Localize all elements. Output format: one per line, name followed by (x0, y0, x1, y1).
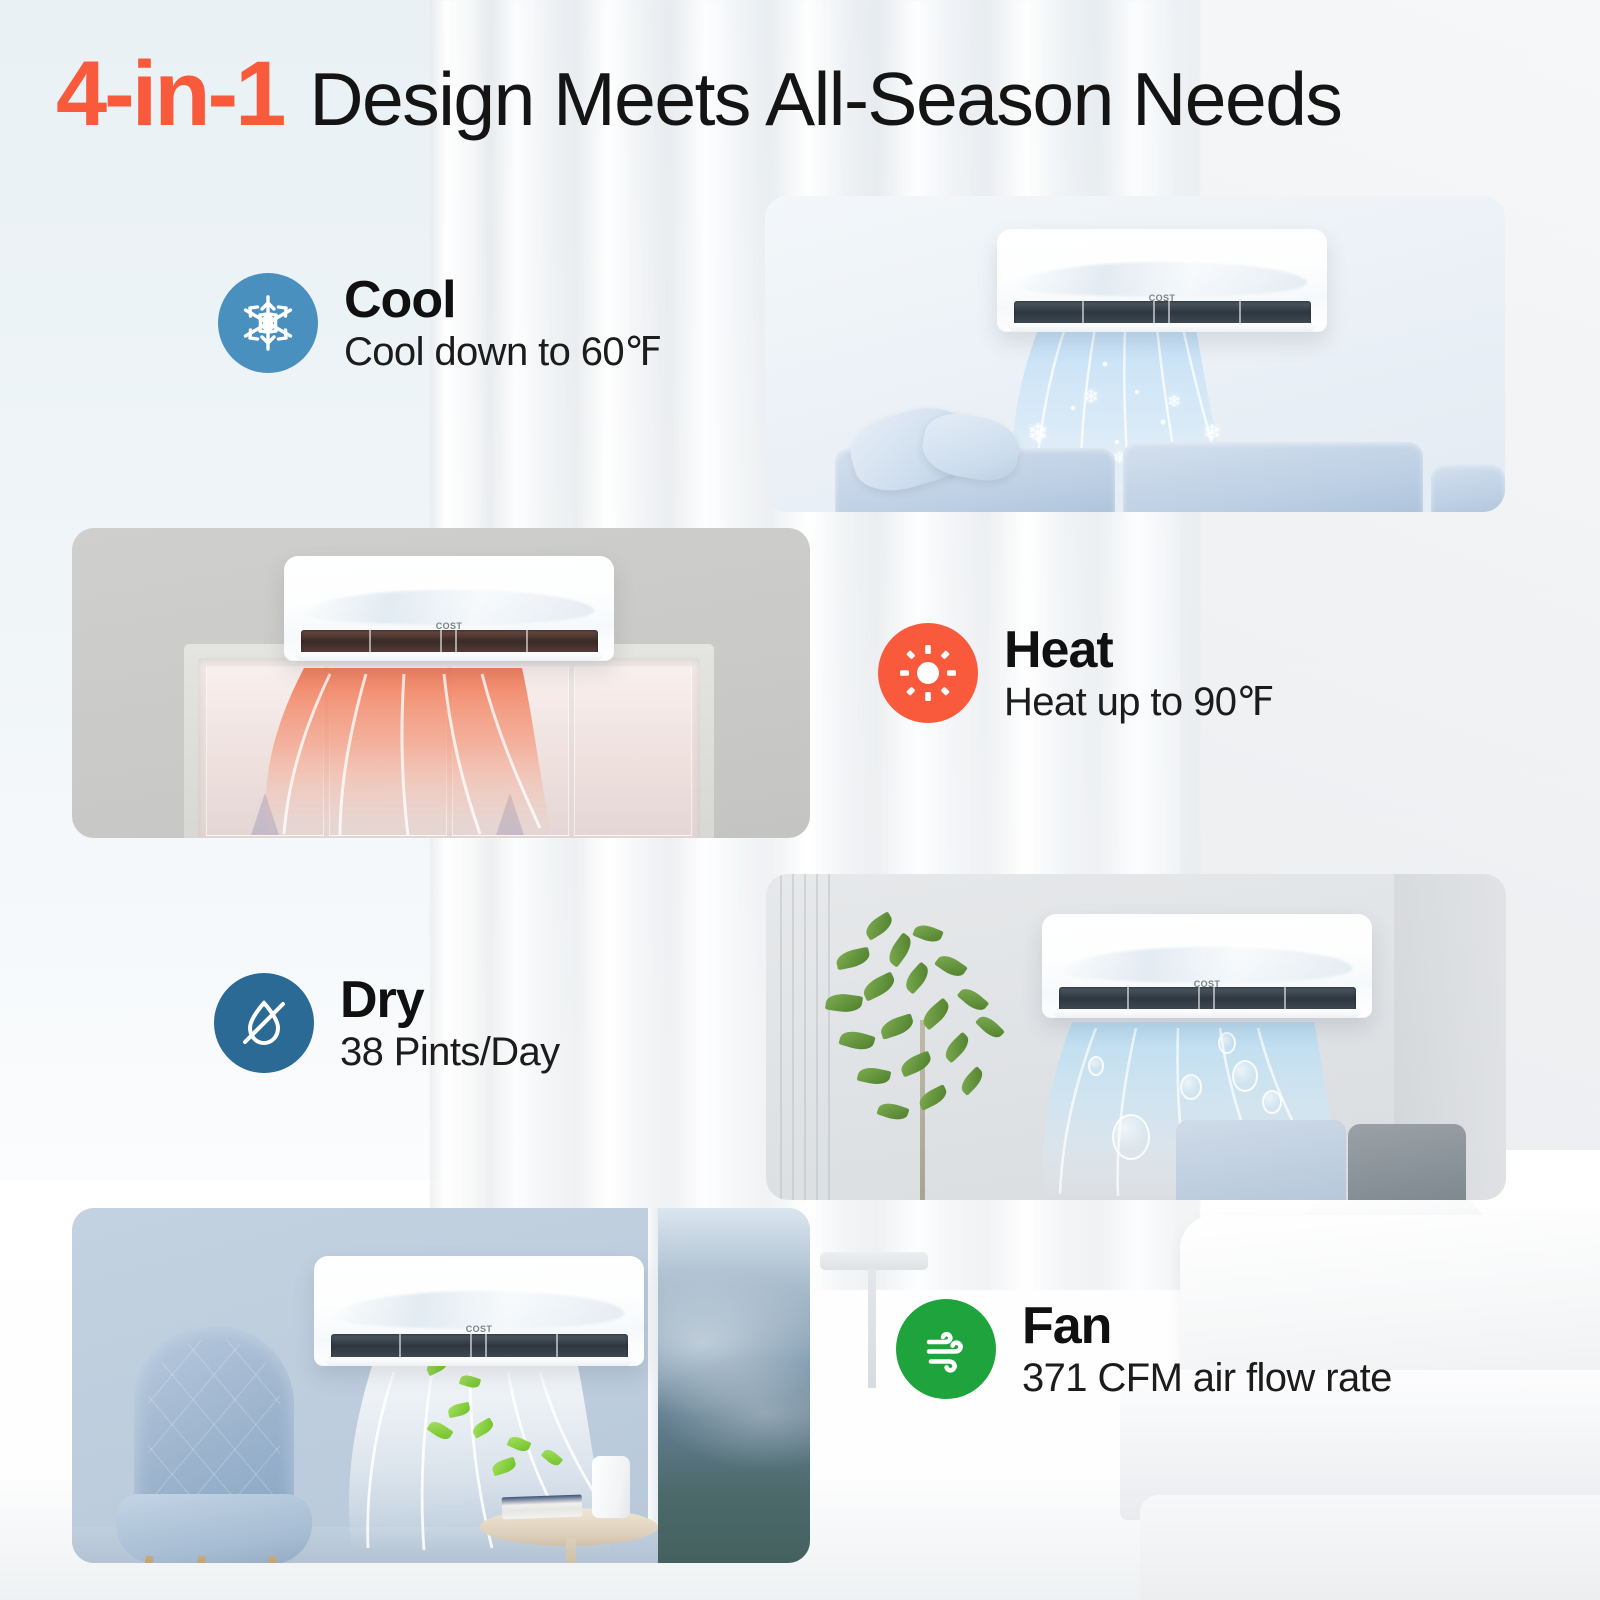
heat-photo-panel: COST WAY (72, 528, 810, 838)
marketing-banner: 4-in-1 Design Meets All-Season Needs (0, 0, 1600, 1600)
feature-heat-title: Heat (1004, 622, 1274, 678)
feature-fan-text: Fan 371 CFM air flow rate (1022, 1298, 1392, 1401)
snowflake-decor: ❄ (1083, 386, 1099, 409)
feature-dry-title: Dry (340, 972, 560, 1028)
feature-heat: Heat Heat up to 90℉ (878, 622, 1274, 725)
background-side-table-leg (868, 1268, 876, 1388)
feature-cool: Cool Cool down to 60℉ (218, 272, 662, 375)
ac-lip (1052, 1009, 1362, 1018)
wind-icon (896, 1299, 996, 1399)
water-droplet-decor (1232, 1060, 1258, 1092)
headline-main-text: Design Meets All-Season Needs (309, 62, 1341, 137)
feature-fan: Fan 371 CFM air flow rate (896, 1298, 1392, 1401)
snowflake-icon (218, 273, 318, 373)
feature-dry: Dry 38 Pints/Day (214, 972, 560, 1075)
ac-lip (324, 1357, 634, 1366)
feature-heat-subtitle: Heat up to 90℉ (1004, 680, 1274, 725)
cool-photo-panel: ❄ ❄ ❄ ❄ ❄ COST WAY (765, 196, 1505, 512)
air-conditioner-unit: COST WAY (1042, 914, 1372, 1018)
water-droplet-decor (1180, 1074, 1202, 1100)
feature-fan-title: Fan (1022, 1298, 1392, 1354)
water-droplet-decor (1262, 1090, 1282, 1114)
feature-heat-text: Heat Heat up to 90℉ (1004, 622, 1274, 725)
feature-cool-text: Cool Cool down to 60℉ (344, 272, 662, 375)
feature-fan-subtitle: 371 CFM air flow rate (1022, 1356, 1392, 1401)
fan-photo-panel: COST WAY (72, 1208, 810, 1563)
fan-humidifier-decor (592, 1456, 630, 1518)
ac-wave-decor (1017, 262, 1307, 297)
fan-side-table-leg (566, 1538, 576, 1563)
water-droplet-decor (1088, 1056, 1104, 1076)
air-conditioner-unit: COST WAY (997, 229, 1327, 332)
headline: 4-in-1 Design Meets All-Season Needs (56, 48, 1556, 140)
cool-sofa (795, 410, 1495, 512)
feature-dry-subtitle: 38 Pints/Day (340, 1030, 560, 1075)
headline-accent-text: 4-in-1 (56, 48, 283, 140)
sun-icon (878, 623, 978, 723)
dry-sofa (1176, 1118, 1466, 1200)
air-conditioner-unit: COST WAY (314, 1256, 644, 1366)
ac-wave-decor (304, 590, 594, 626)
dry-photo-panel: COST WAY (766, 874, 1506, 1200)
ac-lip (1007, 323, 1317, 332)
ac-wave-decor (1062, 947, 1352, 982)
fan-books-decor (502, 1495, 583, 1520)
air-conditioner-unit: COST WAY (284, 556, 614, 661)
snowflake-decor: ❄ (1167, 392, 1181, 412)
feature-cool-subtitle: Cool down to 60℉ (344, 330, 662, 375)
ac-lip (294, 652, 604, 661)
ac-wave-decor (334, 1291, 624, 1328)
water-droplet-decor (1112, 1114, 1150, 1160)
feature-cool-title: Cool (344, 272, 662, 328)
feature-dry-text: Dry 38 Pints/Day (340, 972, 560, 1075)
no-droplet-icon (214, 973, 314, 1073)
background-sofa-base (1140, 1495, 1600, 1600)
water-droplet-decor (1218, 1032, 1236, 1054)
